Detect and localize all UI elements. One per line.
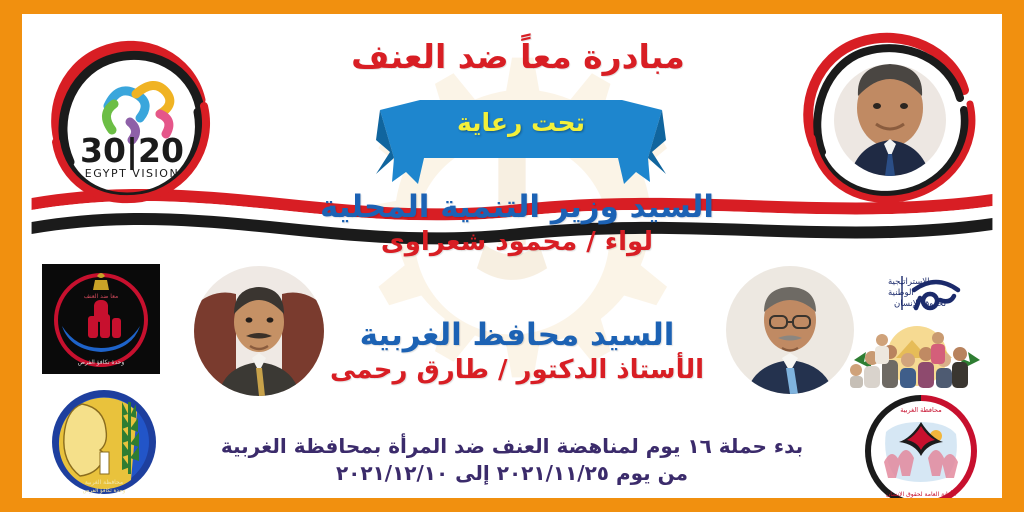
- vision-2030-number: 20|30: [80, 131, 184, 170]
- national-human-rights-strategy-logo: الاستراتيجية الوطنية لحقوق الإنسان: [844, 270, 990, 316]
- gensec-bottom-text: الأمانة العامة لحقوق الإنسان: [886, 490, 957, 498]
- patronage-label: تحت رعاية: [376, 108, 666, 137]
- governor-portrait: [194, 266, 324, 396]
- people-collage-photo: [846, 326, 988, 388]
- poster-frame: 20|30 EGYPT VISION: [0, 0, 1024, 512]
- anti-violence-unit-logo: معا ضد العنف وحدة تكافؤ الفرص: [42, 264, 160, 374]
- minister-text-block: السيد وزير التنمية المحلية لواء / محمود …: [282, 190, 752, 258]
- equal-logo-line2: وحدة تكافؤ الفرص: [83, 487, 126, 494]
- poster-canvas: 20|30 EGYPT VISION: [22, 14, 1002, 498]
- vision-2030-subtitle: EGYPT VISION: [85, 167, 179, 180]
- violence-logo-mid-text: معا ضد العنف: [84, 293, 118, 300]
- governor-role: السيد محافظ الغربية: [282, 318, 752, 353]
- gensec-top-text: محافظة الغربية: [900, 406, 941, 414]
- governor-name: الأستاذ الدكتور / طارق رحمى: [282, 355, 752, 386]
- footer-line-1: بدء حملة ١٦ يوم لمناهضة العنف ضد المرأة …: [22, 433, 1002, 461]
- governor-text-block: السيد محافظ الغربية الأستاذ الدكتور / طا…: [282, 318, 752, 386]
- minister-name: لواء / محمود شعراوى: [282, 227, 752, 258]
- campaign-footer: بدء حملة ١٦ يوم لمناهضة العنف ضد المرأة …: [22, 433, 1002, 488]
- violence-logo-bottom-text: وحدة تكافؤ الفرص: [78, 359, 125, 366]
- nhrs-line2: الوطنية: [888, 288, 914, 298]
- egypt-vision-2030-logo: 20|30 EGYPT VISION: [40, 34, 222, 206]
- footer-line-2: من يوم ٢٠٢١/١١/٢٥ إلى ٢٠٢١/١٢/١٠: [22, 460, 1002, 488]
- minister-role: السيد وزير التنمية المحلية: [282, 190, 752, 225]
- president-portrait: [792, 26, 988, 212]
- minister-portrait: [726, 266, 854, 394]
- page-title: مبادرة معاً ضد العنف: [248, 40, 788, 75]
